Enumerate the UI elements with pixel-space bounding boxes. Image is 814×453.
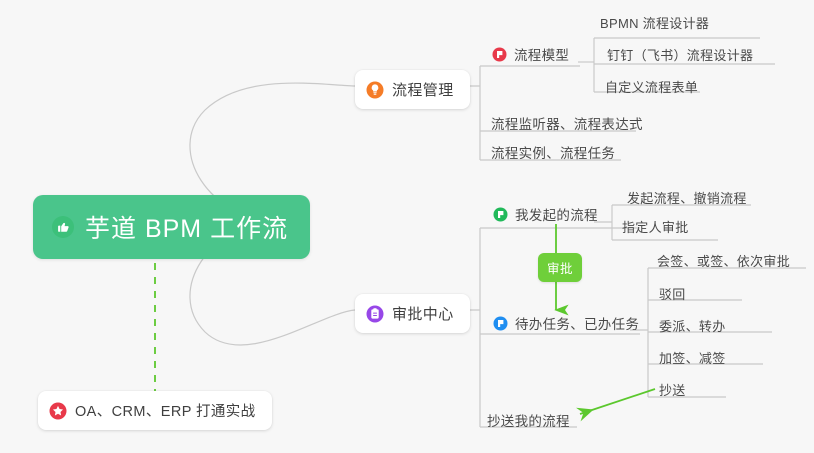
approval-tag: 审批 (538, 253, 582, 282)
branch-label: 审批中心 (392, 303, 454, 324)
branch-process-management[interactable]: 流程管理 (355, 70, 470, 109)
node-reject[interactable]: 驳回 (659, 284, 686, 303)
node-label: 指定人审批 (622, 217, 689, 236)
approval-tag-label: 审批 (547, 262, 573, 276)
node-my-initiated-process[interactable]: 我发起的流程 (493, 204, 598, 224)
node-assignee-approval[interactable]: 指定人审批 (622, 217, 689, 236)
node-label: 会签、或签、依次审批 (657, 251, 790, 270)
node-label: 流程监听器、流程表达式 (491, 113, 643, 133)
flag-icon (492, 47, 507, 62)
node-custom-process-form[interactable]: 自定义流程表单 (605, 77, 698, 96)
node-label: 驳回 (659, 284, 686, 303)
node-label: 发起流程、撤销流程 (627, 188, 747, 207)
node-label: 我发起的流程 (515, 204, 598, 224)
root-label: 芋道 BPM 工作流 (85, 209, 288, 245)
node-bpmn-designer[interactable]: BPMN 流程设计器 (600, 13, 709, 32)
node-process-model[interactable]: 流程模型 (492, 44, 569, 64)
node-label: 加签、减签 (659, 348, 726, 367)
flag-icon (493, 207, 508, 222)
node-delegate-transfer[interactable]: 委派、转办 (659, 316, 726, 335)
star-icon (49, 402, 67, 420)
branch-label: 流程管理 (392, 79, 454, 100)
node-countersign-orsign-sequential[interactable]: 会签、或签、依次审批 (657, 251, 790, 270)
lightbulb-icon (366, 81, 384, 99)
branch-approval-center[interactable]: 审批中心 (355, 294, 470, 333)
cc-flow-arrow (580, 389, 655, 414)
node-cc[interactable]: 抄送 (659, 380, 686, 399)
node-start-cancel-process[interactable]: 发起流程、撤销流程 (627, 188, 747, 207)
node-label: 抄送 (659, 380, 686, 399)
node-label: 抄送我的流程 (487, 410, 570, 430)
node-label: 钉钉（飞书）流程设计器 (607, 45, 753, 64)
node-label: 委派、转办 (659, 316, 726, 335)
flag-icon (493, 316, 508, 331)
node-dingtalk-feishu-designer[interactable]: 钉钉（飞书）流程设计器 (607, 45, 753, 64)
integration-card-label: OA、CRM、ERP 打通实战 (75, 400, 256, 421)
node-label: 自定义流程表单 (605, 77, 698, 96)
node-process-instance-task[interactable]: 流程实例、流程任务 (491, 142, 615, 162)
integration-card[interactable]: OA、CRM、ERP 打通实战 (38, 391, 272, 430)
node-add-remove-sign[interactable]: 加签、减签 (659, 348, 726, 367)
node-process-listener-expression[interactable]: 流程监听器、流程表达式 (491, 113, 643, 133)
clipboard-icon (366, 305, 384, 323)
node-label: 流程实例、流程任务 (491, 142, 615, 162)
root-node[interactable]: 芋道 BPM 工作流 (33, 195, 310, 259)
node-todo-done-tasks[interactable]: 待办任务、已办任务 (493, 313, 639, 333)
mindmap-canvas: 芋道 BPM 工作流 流程管理 流程模型 BPMN 流程设计器 钉钉（飞书）流程… (0, 0, 814, 453)
thumbs-up-icon (51, 215, 75, 239)
node-cc-to-me-process[interactable]: 抄送我的流程 (487, 410, 570, 430)
node-label: 流程模型 (514, 44, 569, 64)
node-label: BPMN 流程设计器 (600, 13, 709, 32)
node-label: 待办任务、已办任务 (515, 313, 639, 333)
